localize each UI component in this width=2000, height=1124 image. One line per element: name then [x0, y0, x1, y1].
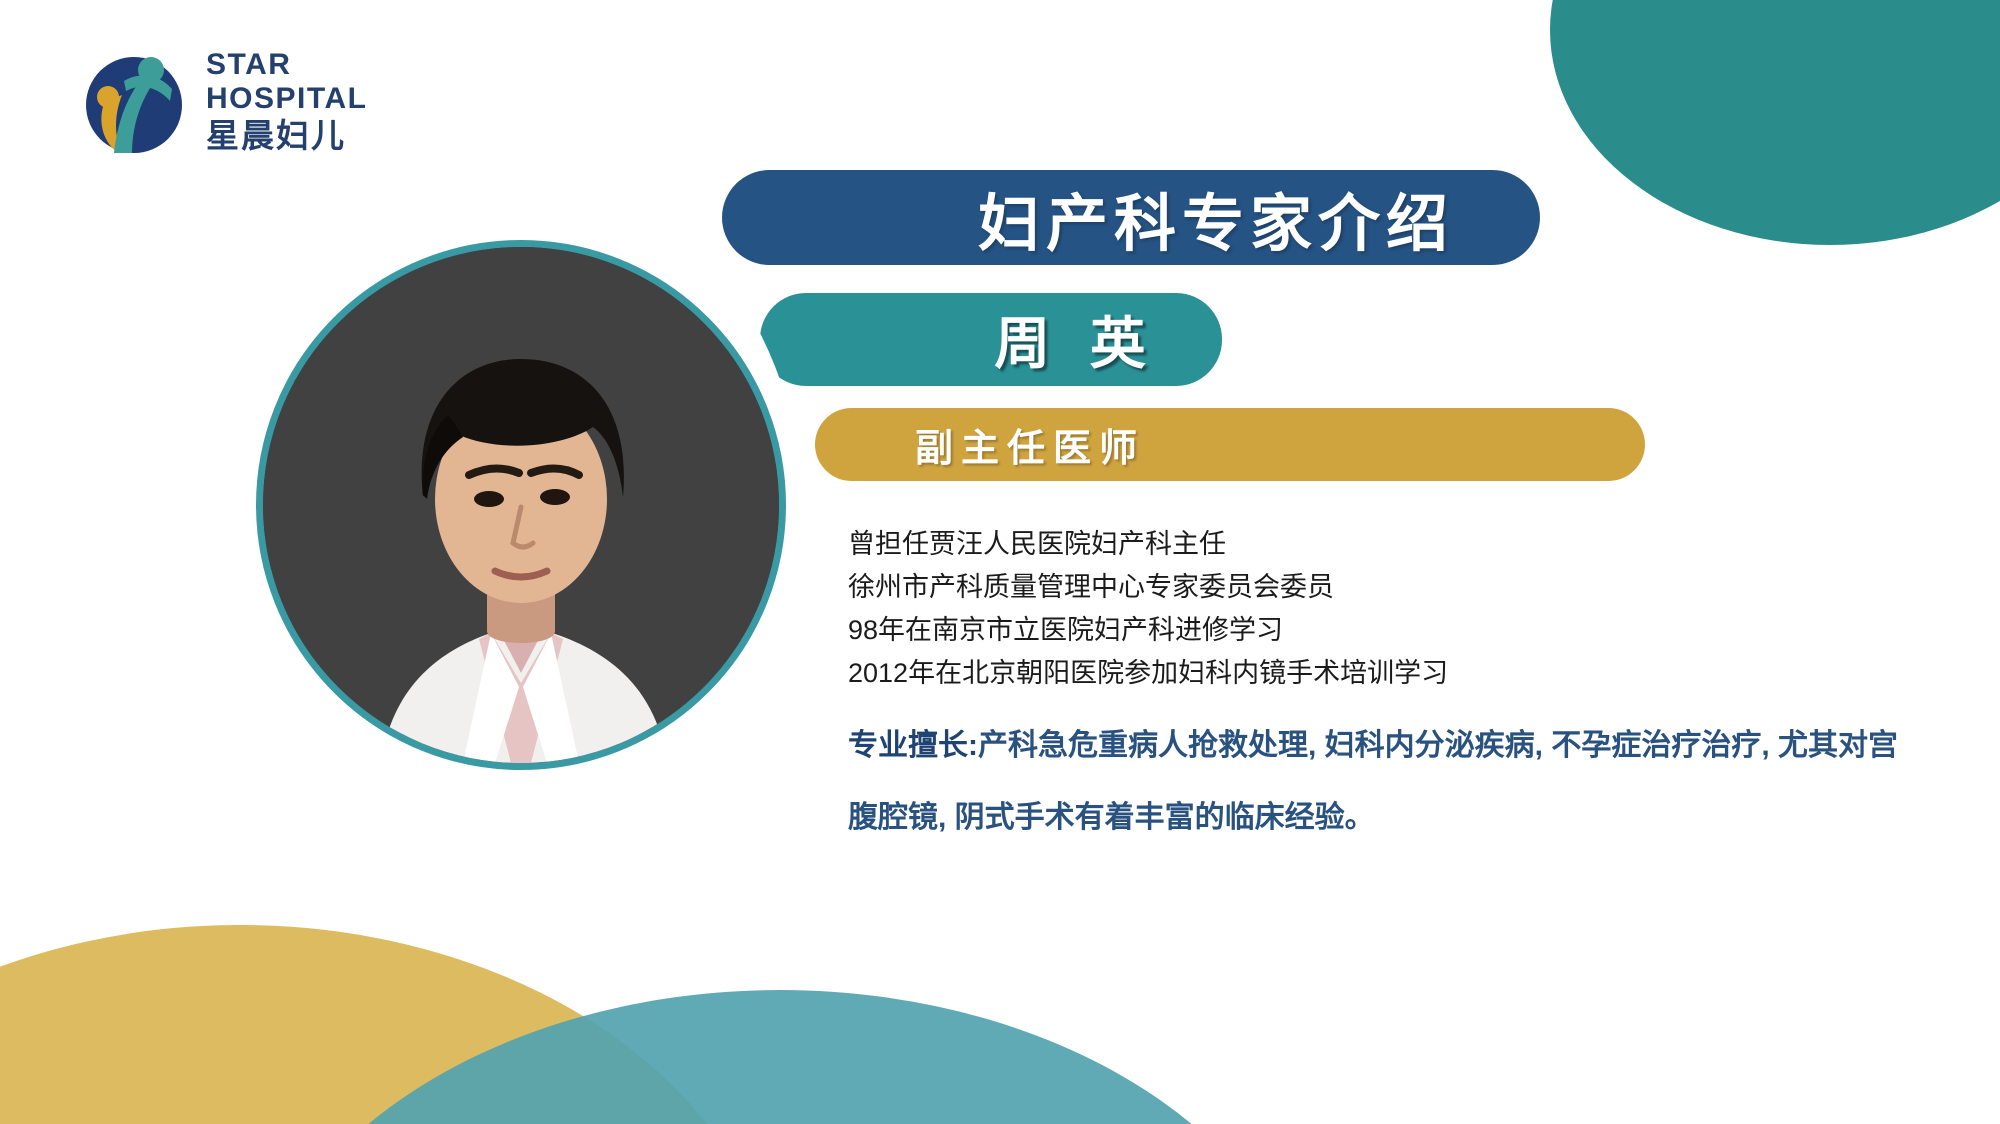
brand-wordmark: STAR HOSPITAL 星晨妇儿 — [206, 50, 367, 152]
specialty-text: 产科急危重病人抢救处理, 妇科内分泌疾病, 不孕症治疗治疗, 尤其对宫腹腔镜, … — [848, 729, 1898, 834]
bio-list: 曾担任贾汪人民医院妇产科主任 徐州市产科质量管理中心专家委员会委员 98年在南京… — [848, 523, 1938, 695]
decor-circle-top-right — [1550, 0, 2000, 245]
specialty-label: 专业擅长: — [848, 729, 978, 762]
bio-line: 2012年在北京朝阳医院参加妇科内镜手术培训学习 — [848, 652, 1938, 695]
specialty-paragraph: 专业擅长:产科急危重病人抢救处理, 妇科内分泌疾病, 不孕症治疗治疗, 尤其对宫… — [848, 710, 1918, 854]
decor-circle-bottom-left-teal — [240, 990, 1320, 1124]
decor-circle-bottom-left-gold — [0, 925, 780, 1124]
bio-line: 98年在南京市立医院妇产科进修学习 — [848, 609, 1938, 652]
brand-logo[interactable]: STAR HOSPITAL 星晨妇儿 — [78, 45, 367, 157]
doctor-name-banner: 周 英 — [760, 293, 1222, 386]
doctor-role-banner: 副主任医师 — [815, 408, 1645, 481]
brand-line-1: STAR — [206, 50, 367, 80]
doctor-name: 周 英 — [994, 299, 1158, 380]
star-hospital-logo-icon — [78, 45, 190, 157]
doctor-portrait — [256, 240, 786, 770]
page-title-banner: 妇产科专家介绍 — [722, 170, 1540, 265]
bio-line: 曾担任贾汪人民医院妇产科主任 — [848, 523, 1938, 566]
doctor-role: 副主任医师 — [915, 417, 1145, 472]
brand-line-2: HOSPITAL — [206, 84, 367, 114]
slide-canvas: STAR HOSPITAL 星晨妇儿 妇产科专家介绍 周 英 副主任医师 — [0, 0, 2000, 1124]
bio-line: 徐州市产科质量管理中心专家委员会委员 — [848, 566, 1938, 609]
page-title: 妇产科专家介绍 — [978, 173, 1454, 263]
brand-chinese: 星晨妇儿 — [206, 119, 367, 152]
